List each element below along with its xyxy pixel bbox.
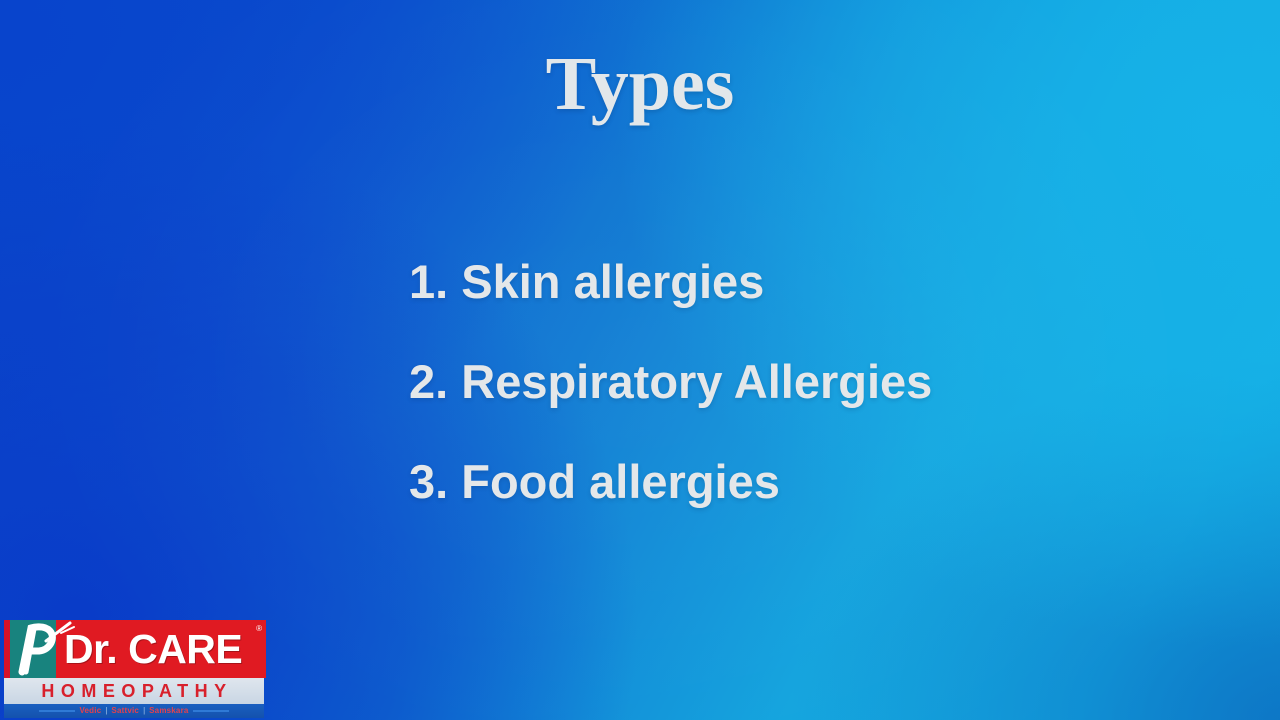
list-item: 2. Respiratory Allergies <box>409 332 1169 432</box>
tagline-word: Vedic <box>79 707 101 715</box>
tagline-word: Sattvic <box>111 707 139 715</box>
logo-name-bar: Dr. CARE ® <box>56 620 266 678</box>
logo-monogram-icon <box>4 620 56 678</box>
logo-subtitle-bar: HOMEOPATHY <box>4 678 264 704</box>
registered-trademark-icon: ® <box>256 624 262 633</box>
tagline-word: Samskara <box>149 707 188 715</box>
tagline-rule-left <box>39 710 75 712</box>
list-item: 1. Skin allergies <box>409 232 1169 332</box>
logo-brand-name: Dr. CARE <box>56 629 242 670</box>
tagline-rule-right <box>193 710 229 712</box>
types-list: 1. Skin allergies 2. Respiratory Allergi… <box>409 232 1169 532</box>
list-item: 3. Food allergies <box>409 432 1169 532</box>
logo-tagline-bar: Vedic | Sattvic | Samskara <box>4 704 264 718</box>
slide-title: Types <box>0 46 1280 122</box>
tagline-separator: | <box>105 707 107 715</box>
dr-care-homeopathy-logo: Dr. CARE ® HOMEOPATHY Vedic | Sattvic | … <box>0 620 266 718</box>
logo-top-row: Dr. CARE ® <box>0 620 266 678</box>
tagline-separator: | <box>143 707 145 715</box>
logo-subtitle: HOMEOPATHY <box>35 682 232 700</box>
presentation-slide: Types 1. Skin allergies 2. Respiratory A… <box>0 0 1280 720</box>
